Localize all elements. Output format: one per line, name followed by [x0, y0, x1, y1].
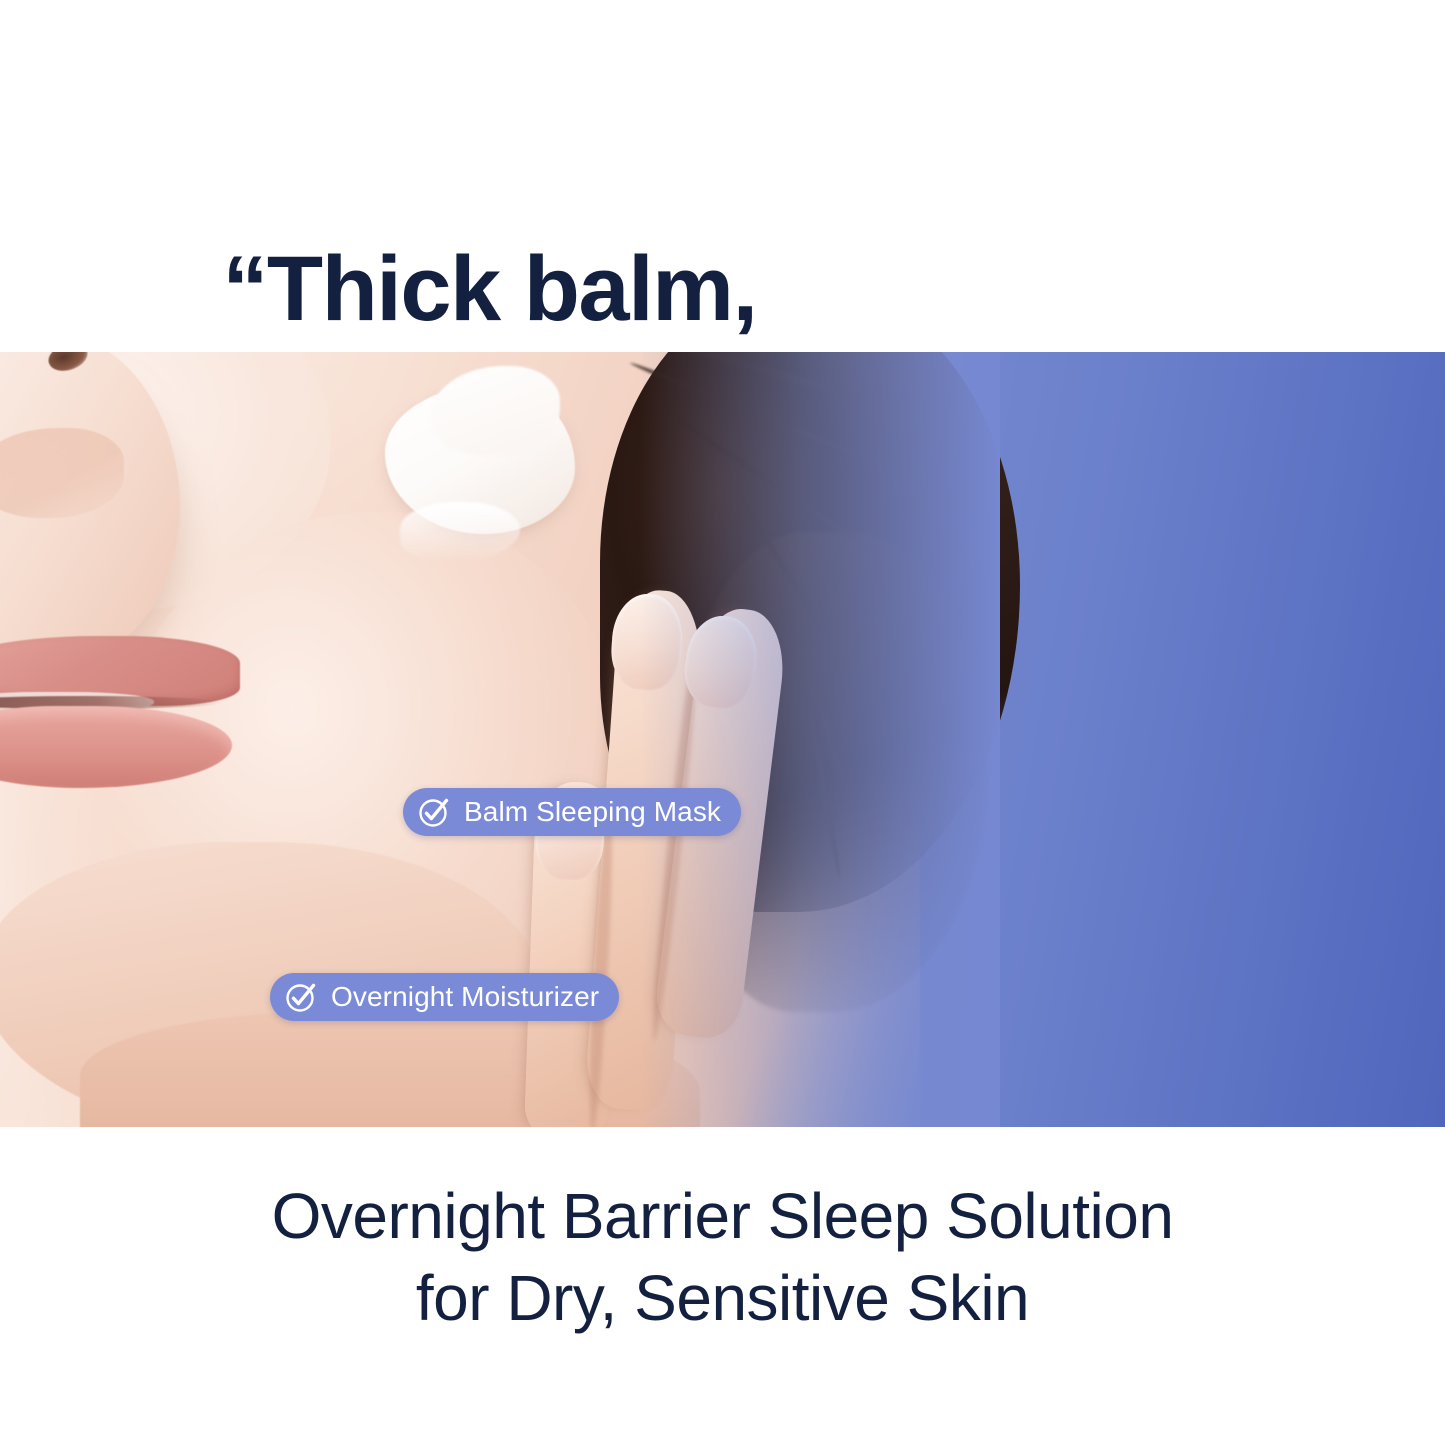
lower-lip: [0, 706, 232, 788]
badge-label: Balm Sleeping Mask: [464, 788, 721, 836]
lips: [0, 622, 270, 802]
product-marketing-image: “Thick balm, total overnight recovery.”: [0, 0, 1445, 1445]
headline-line-1: “Thick balm,: [222, 238, 756, 340]
portrait-edge-fade: [640, 352, 1000, 1127]
caption-line-2: for Dry, Sensitive Skin: [0, 1257, 1445, 1339]
badge-label: Overnight Moisturizer: [331, 973, 599, 1021]
headline-band: “Thick balm, total overnight recovery.”: [0, 0, 1445, 352]
check-circle-icon: [417, 795, 451, 829]
badge-balm-sleeping-mask[interactable]: Balm Sleeping Mask: [403, 788, 741, 836]
check-circle-icon: [284, 980, 318, 1014]
product-photo: Balm Sleeping Mask Overnight Moisturizer…: [0, 352, 1445, 1127]
badge-overnight-moisturizer[interactable]: Overnight Moisturizer: [270, 973, 619, 1021]
caption-line-1: Overnight Barrier Sleep Solution: [0, 1175, 1445, 1257]
nose-wing-shadow: [0, 428, 124, 518]
caption-band: Overnight Barrier Sleep Solution for Dry…: [0, 1127, 1445, 1445]
nostril: [45, 352, 91, 376]
product-caption: Overnight Barrier Sleep Solution for Dry…: [0, 1175, 1445, 1339]
